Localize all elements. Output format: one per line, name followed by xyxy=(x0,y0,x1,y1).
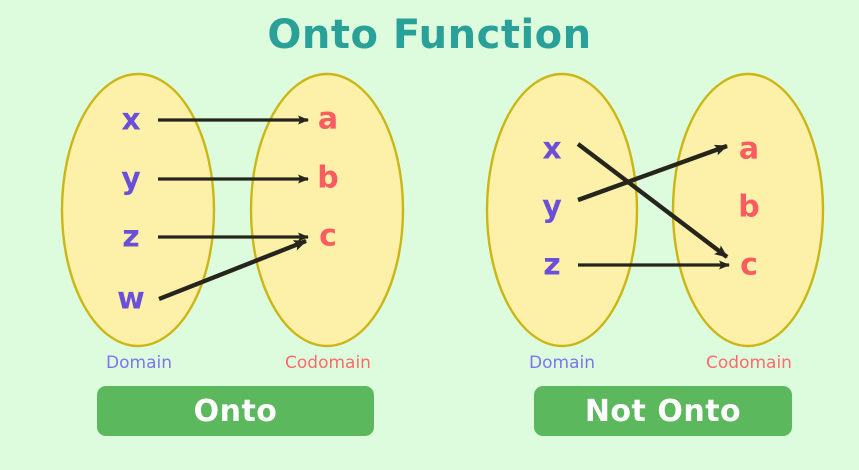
diagram-canvas: Onto Function x y z w a b c xyxy=(0,0,859,470)
left-domain-element-x: x xyxy=(121,103,140,138)
right-codomain-element-a: a xyxy=(739,132,759,167)
right-domain-element-y: y xyxy=(542,190,562,225)
right-domain-element-z: z xyxy=(543,248,560,283)
left-codomain-label: Codomain xyxy=(285,353,371,373)
left-codomain-element-c: c xyxy=(319,219,337,254)
left-domain-element-y: y xyxy=(121,162,141,197)
left-codomain-element-a: a xyxy=(318,102,338,137)
right-domain-label: Domain xyxy=(529,353,595,373)
left-domain-element-z: z xyxy=(122,220,139,255)
right-domain-ellipse xyxy=(487,74,637,346)
left-diagram-group: x y z w a b c Domain Codomain xyxy=(62,74,403,373)
left-codomain-element-b: b xyxy=(317,161,338,196)
right-codomain-element-c: c xyxy=(740,248,758,283)
onto-verdict-button[interactable]: Onto xyxy=(97,386,374,436)
left-domain-element-w: w xyxy=(117,282,145,317)
right-domain-element-x: x xyxy=(542,132,561,167)
right-codomain-element-b: b xyxy=(738,190,759,225)
left-domain-label: Domain xyxy=(106,353,172,373)
right-codomain-label: Codomain xyxy=(706,353,792,373)
right-diagram-group: x y z a b c Domain Codomain xyxy=(487,74,823,373)
not-onto-verdict-button[interactable]: Not Onto xyxy=(534,386,792,436)
